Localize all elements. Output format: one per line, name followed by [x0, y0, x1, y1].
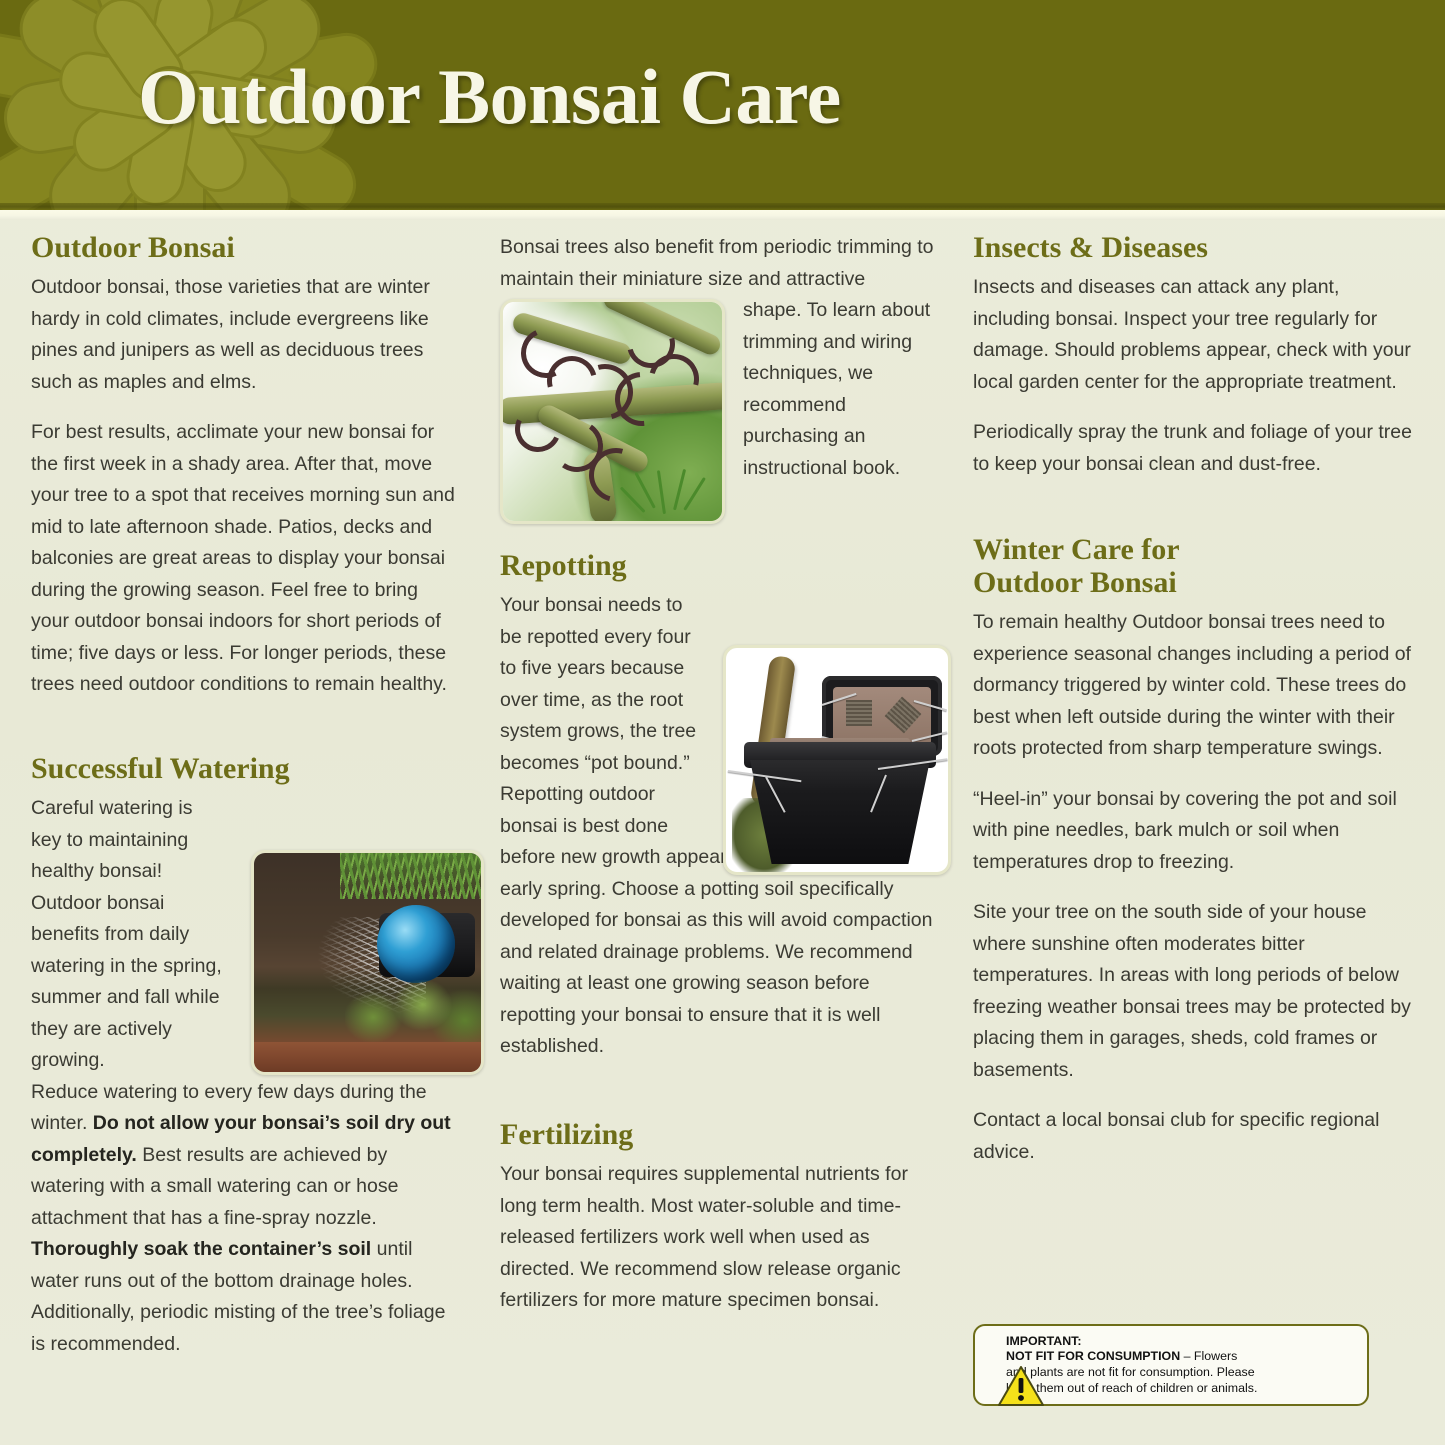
warning-line-1: IMPORTANT: — [1006, 1334, 1257, 1350]
section-heading-repotting: Repotting — [500, 550, 943, 582]
watering-bold-2: Thoroughly soak the container’s soil — [31, 1238, 371, 1260]
column-right: Insects & Diseases Insects and diseases … — [973, 232, 1413, 1445]
paragraph-winter-4: Contact a local bonsai club for specific… — [973, 1105, 1413, 1168]
paragraph-insects-2: Periodically spray the trunk and foliage… — [973, 417, 1413, 480]
section-heading-fertilizing: Fertilizing — [500, 1119, 943, 1151]
warning-line-2-rest: – Flowers — [1180, 1349, 1237, 1363]
section-heading-successful-watering: Successful Watering — [31, 753, 459, 785]
bonsai-wiring-photo — [500, 299, 725, 524]
content-columns: Outdoor Bonsai Outdoor bonsai, those var… — [0, 232, 1445, 1445]
winter-care-heading-line-1: Winter Care for — [973, 533, 1180, 566]
repotting-bonsai-photo — [723, 645, 951, 875]
column-middle: Bonsai trees also benefit from periodic … — [500, 232, 943, 1445]
paragraph-repotting-wrap: Your bonsai needs to be repotted every f… — [500, 590, 705, 842]
paragraph-winter-2: “Heel-in” your bonsai by covering the po… — [973, 784, 1413, 879]
watering-bonsai-photo — [251, 850, 484, 1075]
page-header: Outdoor Bonsai Care — [0, 0, 1445, 210]
section-heading-winter-care: Winter Care for Outdoor Bonsai — [973, 534, 1413, 599]
paragraph-insects-1: Insects and diseases can attack any plan… — [973, 272, 1413, 398]
paragraph-repotting-rest: before new growth appears, during late w… — [500, 842, 943, 1063]
important-warning-box: IMPORTANT: NOT FIT FOR CONSUMPTION – Flo… — [973, 1324, 1369, 1406]
paragraph-watering-rest: Reduce watering to every few days during… — [31, 1077, 459, 1361]
paragraph-outdoor-bonsai-1: Outdoor bonsai, those varieties that are… — [31, 272, 459, 398]
column-left: Outdoor Bonsai Outdoor bonsai, those var… — [31, 232, 459, 1445]
warning-line-2-bold: NOT FIT FOR CONSUMPTION — [1006, 1349, 1180, 1363]
paragraph-outdoor-bonsai-2: For best results, acclimate your new bon… — [31, 417, 459, 701]
paragraph-winter-3: Site your tree on the south side of your… — [973, 897, 1413, 1086]
paragraph-watering-wrap: Careful watering is key to maintaining h… — [31, 793, 223, 1077]
winter-care-heading-line-2: Outdoor Bonsai — [973, 566, 1177, 599]
bonsai-care-page: Outdoor Bonsai Care Outdoor Bonsai Outdo… — [0, 0, 1445, 1445]
section-heading-outdoor-bonsai: Outdoor Bonsai — [31, 232, 459, 264]
paragraph-trimming-intro-a: Bonsai trees also benefit from periodic … — [500, 232, 943, 295]
header-divider — [0, 210, 1445, 219]
paragraph-fertilizing-1: Your bonsai requires supplemental nutrie… — [500, 1159, 943, 1317]
paragraph-winter-1: To remain healthy Outdoor bonsai trees n… — [973, 607, 1413, 765]
section-heading-insects-diseases: Insects & Diseases — [973, 232, 1413, 264]
page-title: Outdoor Bonsai Care — [138, 52, 841, 142]
